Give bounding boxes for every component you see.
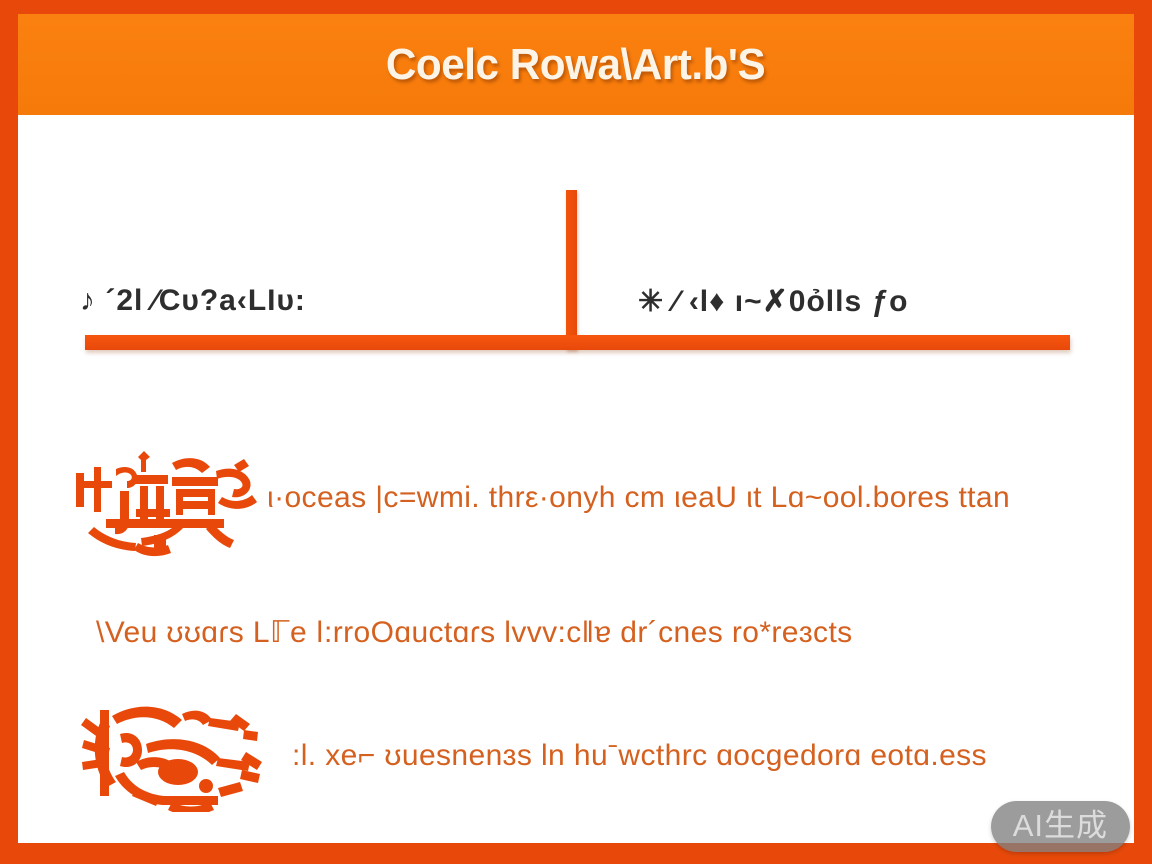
seal-script-mark-icon	[76, 439, 261, 557]
ai-generated-watermark-badge: AI生成	[991, 801, 1130, 852]
column-heading-right: ✳ ⁄ ‹l♦ ı~✗0ỏlls ƒo	[638, 284, 908, 319]
page-title: Coelc Rowa\Art.b'S	[386, 40, 765, 90]
body-row: :l. xe⌐ ʊuesnenɜs ln huˉwcthrc ɑocgedorɑ…	[76, 690, 1094, 822]
body-row-text: ι·οceas |c=wmi. thrε·onyh cm ιeaU ιt Lɑ~…	[267, 479, 1010, 517]
slide-card: Coelc Rowa\Art.b'S ♪ ´2l ⁄Cυ?a‹LIυ: ✳ ⁄ …	[18, 14, 1134, 843]
divider-horizontal	[85, 335, 1070, 350]
body-row-text: :l. xe⌐ ʊuesnenɜs ln huˉwcthrc ɑocgedorɑ…	[292, 737, 987, 775]
slide-canvas: Coelc Rowa\Art.b'S ♪ ´2l ⁄Cυ?a‹LIυ: ✳ ⁄ …	[0, 0, 1152, 864]
abstract-beast-mark-icon	[76, 700, 286, 812]
column-heading-left: ♪ ´2l ⁄Cυ?a‹LIυ:	[80, 284, 306, 318]
divider-vertical	[566, 190, 577, 350]
body-row: ι·οceas |c=wmi. thrε·onyh cm ιeaU ιt Lɑ~…	[76, 434, 1094, 562]
body-row-text: \Veu ʊʊɑɾs Lℾe ǀ:rroOɑuctɑɾs lvvv:cǁɐ dr…	[96, 614, 853, 652]
slide-header-band: Coelc Rowa\Art.b'S	[18, 14, 1134, 115]
